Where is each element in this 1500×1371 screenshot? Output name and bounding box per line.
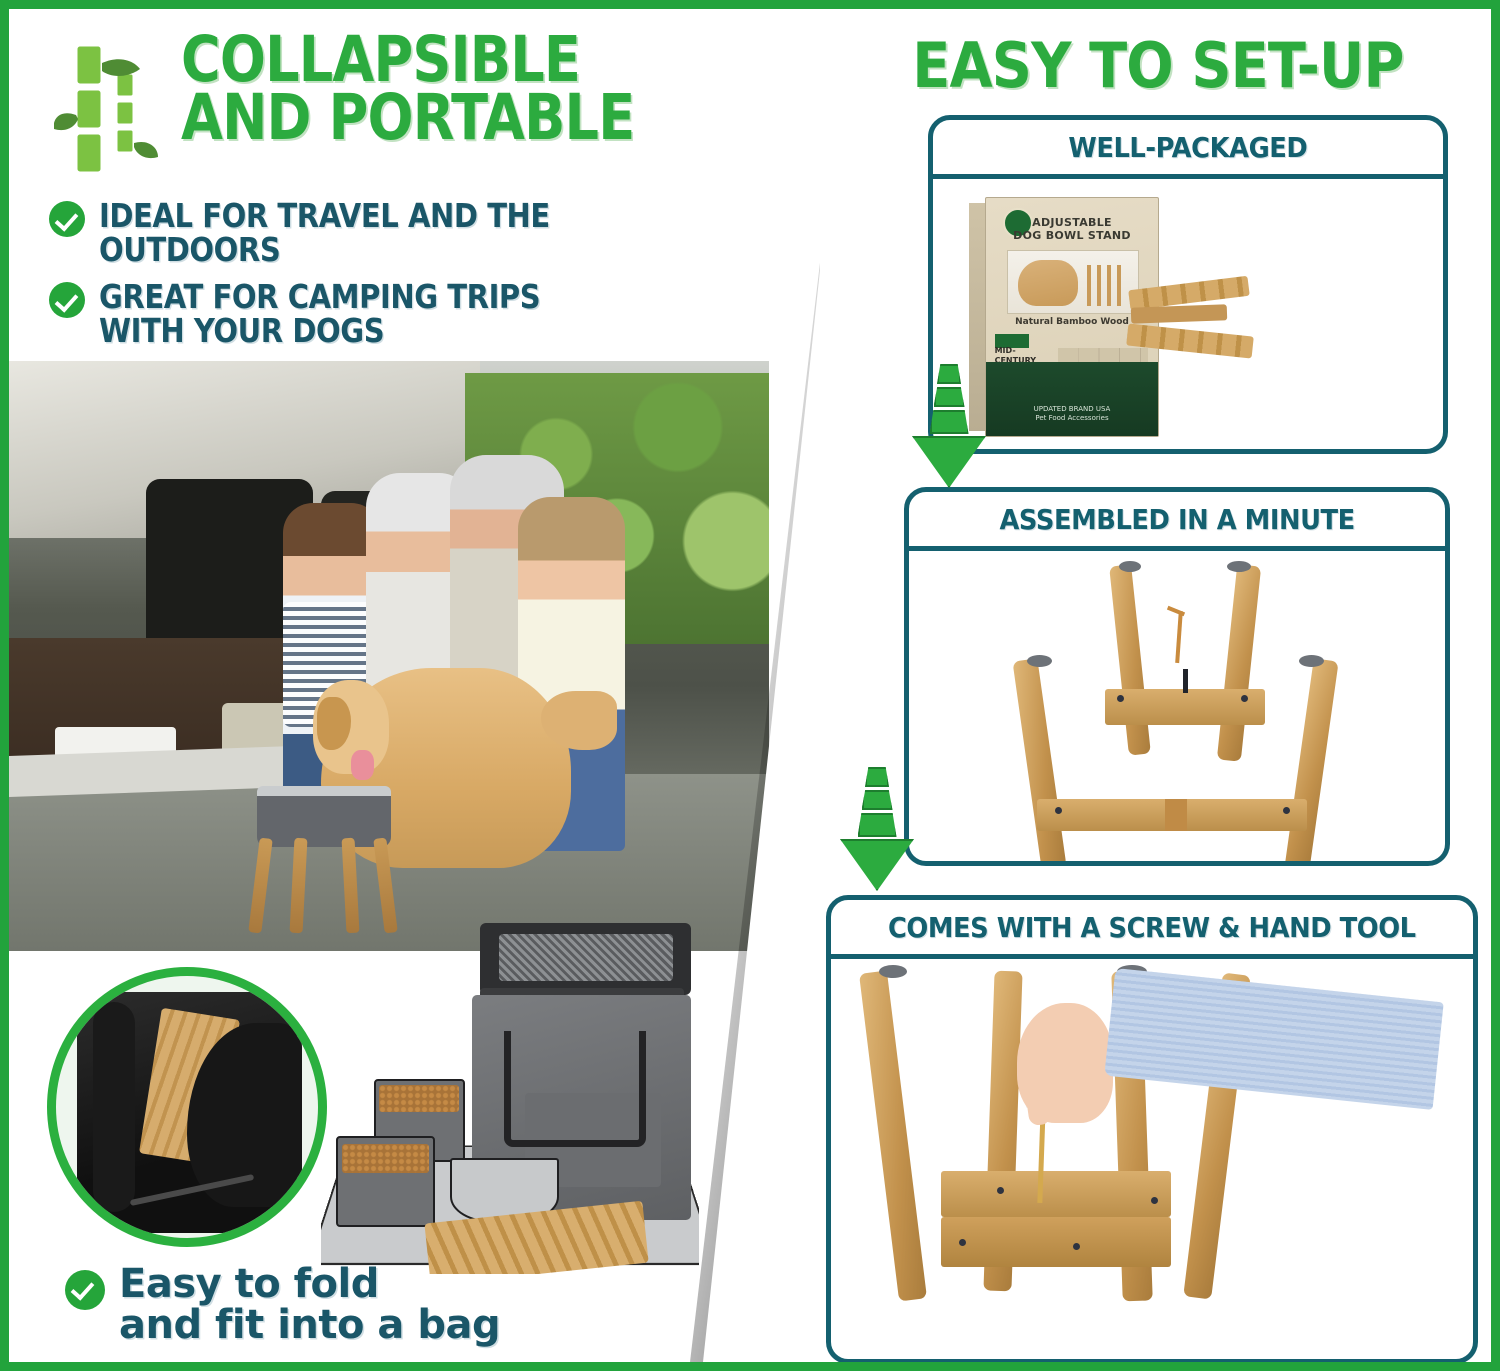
arrow-segment [865,767,889,787]
dog-food [342,1144,429,1174]
step-label-text: WELL-PACKAGED [1069,131,1308,164]
step-label-text: COMES WITH A SCREW & HAND TOOL [888,911,1416,944]
cross-rail-back [941,1217,1171,1267]
stand-leg [248,838,272,934]
box-dog-image [1018,260,1078,306]
brand-line2: Pet Food Accessories [1010,414,1134,423]
right-heading-label: EASY TO SET-UP [912,29,1403,102]
stand-leg [290,838,308,934]
list-item: GREAT FOR CAMPING TRIPS WITH YOUR DOGS [49,280,809,347]
box-subtitle: Natural Bamboo Wood [996,317,1147,327]
leg [1013,658,1067,866]
caption-line-1: Easy to fold [119,1264,500,1305]
check-circle-icon [65,1270,105,1310]
down-arrow-icon-1 [912,364,986,488]
leg [1217,564,1261,761]
bullet-text: GREAT FOR CAMPING TRIPS WITH YOUR DOGS [99,280,699,347]
leg-cap [1299,655,1324,667]
travel-bag-photo [321,912,699,1274]
box-product-photo [1007,250,1140,314]
hex-key-head [1167,606,1185,616]
backpack-strap [93,1002,135,1212]
right-panel: EASY TO SET-UP WELL-PACKAGED ADJUSTABLE … [820,9,1491,1362]
heading-line-2: AND PORTABLE [181,89,663,147]
bullet-label: GREAT FOR CAMPING TRIPS WITH YOUR DOGS [99,280,627,347]
dog-bowl [257,786,391,847]
leg-cap [1027,655,1052,667]
screw-dot [997,1187,1004,1194]
step-label: COMES WITH A SCREW & HAND TOOL [826,895,1478,959]
food-container-lower [336,1136,435,1227]
box-title: ADJUSTABLE DOG BOWL STAND [996,217,1147,242]
box-stand-image [1081,265,1125,306]
infographic-page: COLLAPSIBLE AND PORTABLE IDEAL FOR TRAVE… [0,0,1500,1371]
screw [1183,669,1188,693]
box-title-line2: DOG BOWL STAND [996,230,1147,243]
step-label: ASSEMBLED IN A MINUTE [904,487,1450,551]
left-heading: COLLAPSIBLE AND PORTABLE [181,31,741,147]
feature-bullet-list: IDEAL FOR TRAVEL AND THE OUTDOORS GREAT … [49,199,809,362]
box-brand-text: UPDATED BRAND USA Pet Food Accessories [1010,405,1134,423]
screw-illustration [831,959,1473,1359]
sweater-sleeve [1104,968,1443,1110]
arrow-head [840,839,914,891]
dog-food [379,1085,459,1112]
caption-line-2: and fit into a bag [119,1305,500,1346]
screw-dot [1073,1243,1080,1250]
cross-rail-upper [1105,689,1265,725]
step-label: WELL-PACKAGED [928,115,1448,179]
arrow-segment [934,387,965,407]
step-well-packaged: WELL-PACKAGED ADJUSTABLE DOG BOWL STAND [928,115,1448,454]
leg [859,971,927,1302]
check-circle-icon [49,201,85,237]
step-screw-and-hand-tool: COMES WITH A SCREW & HAND TOOL [826,895,1478,1364]
leg [1284,658,1338,866]
fold-caption: Easy to fold and fit into a bag [65,1264,625,1346]
box-green-band: UPDATED BRAND USA Pet Food Accessories [986,362,1158,436]
list-item: IDEAL FOR TRAVEL AND THE OUTDOORS [49,199,809,266]
box-title-line1: ADJUSTABLE [996,217,1147,230]
screw-dot [1241,695,1248,702]
camping-photo [9,361,769,951]
down-arrow-icon-2 [840,767,914,891]
screw-dot [1055,807,1062,814]
bullet-label: IDEAL FOR TRAVEL AND THE OUTDOORS [99,199,724,266]
tote-handles [504,1031,647,1147]
caption-text: Easy to fold and fit into a bag [119,1264,500,1346]
leg [1109,564,1151,755]
brand-line1: UPDATED BRAND USA [1010,405,1134,414]
screw-dot [1151,1197,1158,1204]
step-assembled-in-a-minute: ASSEMBLED IN A MINUTE [904,487,1450,866]
step-body [826,959,1478,1364]
arrow-head [912,436,986,488]
leg-cap [1119,561,1141,572]
hex-key-shaft [1175,611,1183,663]
screw-dot [1117,695,1124,702]
arrow-segment [858,813,897,837]
step-label-text: ASSEMBLED IN A MINUTE [999,503,1354,536]
leg-cap [1227,561,1251,572]
backpack-circle-inset [47,967,327,1247]
right-heading: EASY TO SET-UP [828,29,1488,102]
cross-rail-front [941,1171,1171,1217]
step-body: ADJUSTABLE DOG BOWL STAND Natural Bamboo… [928,179,1448,454]
arrow-segment [937,364,961,384]
mesh-pocket-leash [499,934,673,981]
arrow-segment [930,410,969,434]
dog-tongue [351,750,374,780]
assembly-illustration [909,551,1445,861]
screw-dot [1283,807,1290,814]
step-body [904,551,1450,866]
bamboo-icon [54,39,164,179]
screw-dot [959,1239,966,1246]
product-package-box: ADJUSTABLE DOG BOWL STAND Natural Bamboo… [985,197,1157,435]
bamboo-plank-mid [1131,305,1228,324]
leg-cap [879,965,907,978]
arrow-segment [862,790,893,810]
bullet-text: IDEAL FOR TRAVEL AND THE OUTDOORS [99,199,809,266]
check-circle-icon [49,282,85,318]
notch [1165,799,1187,831]
